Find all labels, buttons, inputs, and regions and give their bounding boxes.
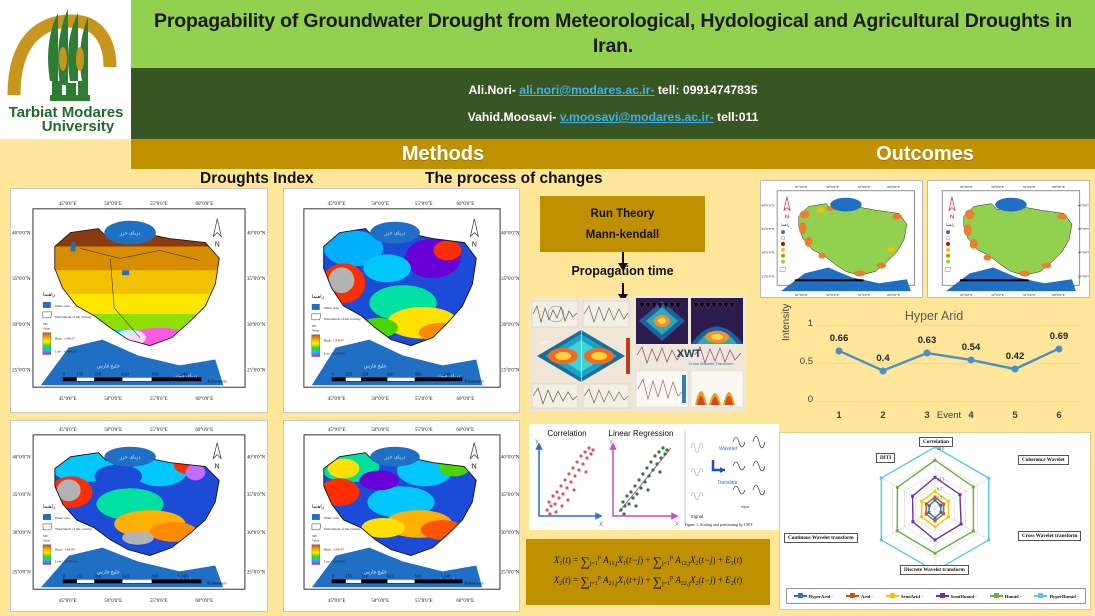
flow-mann-kendall: Mann-kendall <box>586 229 659 241</box>
map-d-lon-1: 45°0'0"E <box>328 428 346 433</box>
map-a-lat-r2: 35°0'0"N <box>247 277 266 282</box>
flow-run-theory: Run Theory <box>591 208 655 220</box>
radar-point <box>987 539 990 542</box>
omap-l-lon-2: 50°0'0"E <box>826 185 839 189</box>
map-c-lon-b3: 55°0'0"E <box>150 599 168 604</box>
map-a-lat-3: 30°0'0"N <box>12 323 31 328</box>
map-c-legend-title: راهنما <box>43 504 56 510</box>
cwt-signal-label: Signal <box>691 514 704 519</box>
map-b-lon-b2: 50°0'0"E <box>371 397 389 402</box>
radar-point <box>920 515 923 518</box>
chart-title: Hyper Arid <box>779 309 1089 323</box>
omap-r-lat-2: 35°0'0"N <box>1078 227 1089 231</box>
map-b-lat-3: 30°0'0"N <box>501 323 519 328</box>
omap-l-north: N <box>785 214 789 220</box>
radar-point <box>942 512 945 515</box>
radar-legend-swatch <box>990 595 1003 597</box>
radar-point <box>925 503 928 506</box>
omap-l-legend-title: راهنما <box>781 223 790 227</box>
chart-data-label: 0.54 <box>962 342 981 353</box>
radar-legend-item[interactable]: HyperArid - <box>794 594 833 599</box>
radar-legend: HyperArid -Arid -SemiArid -SemiHumid -Hu… <box>786 588 1086 604</box>
map-d-legend-low: Low : -0.849561 <box>324 560 347 564</box>
map-d-scale-2: 310 <box>361 573 368 578</box>
chart-y-axis-label: Intensity <box>781 304 792 341</box>
iran-map-c-graphic: دریای خزر خلیج فارس دریای عمان 45°0'0"E … <box>11 421 267 611</box>
radar-legend-swatch <box>1034 595 1047 597</box>
linear-regression-title: Linear Regression <box>609 429 674 438</box>
map-c-scale-0: 0 <box>63 573 65 578</box>
omap-l-lat-4: 25°0'0"N <box>761 274 775 278</box>
map-c-lon-4: 60°0'0"E <box>195 428 213 433</box>
omap-l-lonb-3: 55°0'0"E <box>858 293 871 297</box>
map-b-lat-2: 35°0'0"N <box>501 277 519 282</box>
radar-point <box>958 493 961 496</box>
map-b-north-label: N <box>472 241 477 248</box>
map-a-legend-high: High : 1.94197 <box>55 337 76 341</box>
map-a-legend-value: Value <box>43 327 51 331</box>
map-c-lon-b1: 45°0'0"E <box>59 599 77 604</box>
map-c-north-label: N <box>215 464 220 471</box>
radar-legend-item[interactable]: HyperHumid - <box>1034 594 1078 599</box>
map-a-legend-water: Water area <box>55 304 71 308</box>
radar-axis-label-cross-wavelet-transform: Cross Wavelet transform <box>1018 531 1081 541</box>
radar-point <box>911 520 914 523</box>
page-title: Propagability of Groundwater Drought fro… <box>145 9 1081 59</box>
map-a-lon-b2: 50°0'0"E <box>104 397 122 402</box>
university-logo: Tarbiat Modares University <box>0 0 131 139</box>
chart-data-label: 0.63 <box>918 335 937 346</box>
omap-r-lonb-3: 55°0'0"E <box>1023 293 1036 297</box>
map-a-scale-2: 310 <box>94 371 101 376</box>
omap-l-lon-1: 45°0'0"E <box>795 185 808 189</box>
chart-x-tick: 5 <box>1012 410 1017 421</box>
equation-2: X2(t) = ∑j=1p A21,jX1(t+j) + ∑j=1p A22,j… <box>554 574 742 590</box>
radar-point <box>920 500 923 503</box>
map-d-lon-3: 55°0'0"E <box>415 428 433 433</box>
map-a-lon-b3: 55°0'0"E <box>150 397 168 402</box>
map-groundwater-index: دریای خزر خلیج فارس دریای عمان 45°0'0"E … <box>283 420 520 612</box>
radar-point <box>947 515 950 518</box>
map-c-lat-4: 25°0'0"N <box>12 570 31 575</box>
map-c-lat-r2: 35°0'0"N <box>247 493 266 498</box>
map-b-gulf-label: خلیج فارس <box>364 363 387 369</box>
cwt-translate-label: Translate <box>717 480 738 486</box>
radar-legend-label: HyperArid - <box>809 594 833 599</box>
omap-l-lat-1: 40°0'0"N <box>761 204 775 208</box>
radar-legend-item[interactable]: SemiHumid - <box>936 594 977 599</box>
map-a-legend-watersheds: Watersheds of the country <box>55 315 92 319</box>
chart-x-tick: 6 <box>1056 410 1061 421</box>
xwt-label: XWT <box>677 348 702 360</box>
radar-point <box>942 503 945 506</box>
map-b-lon-b3: 55°0'0"E <box>415 397 433 402</box>
map-c-lat-3: 30°0'0"N <box>12 531 31 536</box>
map-a-legend-low: Low : -0.849561 <box>55 350 78 354</box>
author-2-email[interactable]: v.moosavi@modares.ac.ir- <box>560 110 714 124</box>
contact-band: Ali.Nori- ali.nori@modares.ac.ir- tell: … <box>131 68 1095 139</box>
outcome-map-left-graphic: N راهنما 45°0'0"E 50°0'0"E 55°0'0"E 6 <box>761 181 922 297</box>
map-a-lat-1: 40°0'0"N <box>12 232 31 237</box>
subheading-droughts-index: Droughts Index <box>200 170 314 188</box>
radar-legend-swatch <box>846 595 859 597</box>
contact-row-1: Ali.Nori- ali.nori@modares.ac.ir- tell: … <box>469 83 758 97</box>
reg-y-axis-label: Y <box>609 440 613 446</box>
map-d-lat-3: 30°0'0"N <box>501 531 519 536</box>
map-a-lat-4: 25°0'0"N <box>12 368 31 373</box>
map-a-scale-4: 930 <box>152 371 159 376</box>
map-a-scale-unit: Kilometers <box>207 378 227 383</box>
omap-r-north: N <box>950 214 954 220</box>
map-d-legend-spi: SPI <box>312 534 317 538</box>
map-a-lon-3: 55°0'0"E <box>150 202 168 207</box>
corr-y-axis-label: Y <box>535 440 539 446</box>
map-d-scale-1: 155 <box>346 573 353 578</box>
map-a-scale-3: 620 <box>122 371 129 376</box>
map-d-lon-b4: 60°0'0"E <box>456 599 474 604</box>
map-a-lat-r1: 40°0'0"N <box>247 232 266 237</box>
map-d-lat-1: 40°0'0"N <box>501 456 519 461</box>
map-d-lat-2: 35°0'0"N <box>501 493 519 498</box>
map-b-lon-b1: 45°0'0"E <box>328 397 346 402</box>
map-c-scale-4: 930 <box>152 573 159 578</box>
map-b-legend-water: Water area <box>324 306 340 310</box>
map-a-lon-1: 45°0'0"E <box>59 202 77 207</box>
map-b-scale-unit: Kilometers <box>464 378 484 383</box>
subheading-process-of-changes: The process of changes <box>425 170 602 188</box>
chart-plot-area: 10.500.6610.420.6330.5440.4250.696Event <box>817 325 1081 401</box>
omap-l-lonb-2: 50°0'0"E <box>826 293 839 297</box>
radar-legend-label: Humid - <box>1005 594 1021 599</box>
radar-ring-value: 9.7 <box>937 487 942 492</box>
map-c-legend-spi: SPI <box>43 534 48 538</box>
chart-y-tick: 0 <box>799 394 813 405</box>
radar-legend-label: HyperHumid - <box>1049 594 1078 599</box>
cwt-input-label: Input <box>741 505 749 509</box>
map-c-lon-1: 45°0'0"E <box>59 428 77 433</box>
map-agricultural-index: دریای خزر خلیج فارس دریای عمان 45°0'0"E … <box>10 420 268 612</box>
radar-point <box>934 539 937 542</box>
map-d-scale-3: 620 <box>387 573 394 578</box>
map-a-lat-2: 35°0'0"N <box>12 277 31 282</box>
correlation-title: Correlation <box>547 429 586 438</box>
radar-point <box>925 513 928 516</box>
radar-legend-swatch <box>936 595 949 597</box>
radar-legend-item[interactable]: Humid - <box>990 594 1021 599</box>
radar-point <box>972 530 975 533</box>
map-d-lon-4: 60°0'0"E <box>456 428 474 433</box>
radar-ring-value: 3.0 <box>937 501 942 506</box>
cwt-graphic: CWT <box>529 298 633 411</box>
iran-map-a-graphic: دریای خزر خلیج فارس دریای عمان 45°0'0"E … <box>11 189 267 412</box>
cwt-figure-image: CWT <box>529 298 633 411</box>
radar-chart: 28.014.39.75.73.0 Correlation Coherence … <box>779 432 1091 610</box>
radar-point <box>972 485 975 488</box>
chart-x-tick: 1 <box>836 410 841 421</box>
chart-x-tick: 2 <box>880 410 885 421</box>
section-header-methods: Methods <box>131 139 755 169</box>
author-1-email[interactable]: ali.nori@modares.ac.ir- <box>519 83 654 97</box>
xwt-sublabel: Cross Wavelet Transform <box>689 361 735 366</box>
chart-y-tick: 1 <box>799 318 813 329</box>
radar-point <box>947 500 950 503</box>
radar-axis-label-coherence-wavelet: Coherence Wavelet <box>1018 455 1069 465</box>
radar-point <box>880 539 883 542</box>
band-left-filler <box>0 139 131 169</box>
xwt-figure-image: XWT Cross Wavelet Transform <box>633 295 746 411</box>
radar-point <box>934 516 937 519</box>
outcome-map-left: N راهنما 45°0'0"E 50°0'0"E 55°0'0"E 6 <box>760 180 923 298</box>
outcome-map-right: N راهنما 45°0'0"E 50°0'0"E 55°0'0"E 6 <box>927 180 1090 298</box>
iran-map-d-graphic: دریای خزر خلیج فارس دریای عمان 45°0'0"E … <box>284 421 519 611</box>
map-c-lat-2: 35°0'0"N <box>12 493 31 498</box>
map-b-legend-value: Value <box>312 329 320 333</box>
map-a-legend-title: راهنما <box>43 292 56 298</box>
map-d-legend-value: Value <box>312 539 320 543</box>
poster-root: Tarbiat Modares University Propagability… <box>0 0 1095 616</box>
correlation-regression-figure: Correlation Linear Regression Y X <box>529 424 779 530</box>
omap-r-lon-1: 45°0'0"E <box>960 185 973 189</box>
chart-data-point[interactable] <box>880 367 887 374</box>
omap-l-lon-3: 55°0'0"E <box>858 185 871 189</box>
radar-axis-label-diti: DITI <box>876 453 895 463</box>
flow-arrow-2 <box>622 283 624 295</box>
cwt-wavelet-label: Wavelet <box>719 446 738 452</box>
omap-r-lat-1: 40°0'0"N <box>1078 204 1089 208</box>
map-c-legend-value: Value <box>43 539 51 543</box>
chart-x-axis-label: Event <box>937 410 961 421</box>
chart-data-point[interactable] <box>836 347 843 354</box>
map-c-legend-water: Water area <box>55 516 71 520</box>
author-1-name: Ali.Nori- <box>469 83 516 97</box>
omap-r-lat-3: 30°0'0"N <box>1078 251 1089 255</box>
map-b-legend-high: High : 1.94197 <box>324 339 345 343</box>
map-d-lon-b3: 55°0'0"E <box>415 599 433 604</box>
outcome-trend-maps: N راهنما 45°0'0"E 50°0'0"E 55°0'0"E 6 <box>760 180 1090 298</box>
radar-point <box>927 511 930 514</box>
map-a-lon-b4: 60°0'0"E <box>195 397 213 402</box>
correlation-graphic: Correlation Linear Regression Y X <box>529 424 779 530</box>
cwt-label: CWT <box>539 340 549 345</box>
radar-axis-label-continous-wavelet-transform: Continous Wavelet transform <box>784 533 858 543</box>
chart-y-tick: 0.5 <box>799 356 813 367</box>
xwt-graphic: XWT Cross Wavelet Transform <box>633 295 746 411</box>
radar-point <box>911 495 914 498</box>
chart-series-line <box>817 325 1081 401</box>
map-c-lat-r1: 40°0'0"N <box>247 456 266 461</box>
radar-legend-label: SemiHumid - <box>951 594 977 599</box>
iran-map-b-graphic: دریای خزر خلیج فارس دریای عمان 45°0'0"E … <box>284 189 519 412</box>
omap-r-lonb-2: 50°0'0"E <box>991 293 1004 297</box>
map-d-legend-watersheds: Watersheds of the country <box>324 527 361 531</box>
map-b-lon-3: 55°0'0"E <box>415 202 433 207</box>
radar-legend-swatch <box>886 595 899 597</box>
corr-x-axis-label: X <box>599 522 603 528</box>
map-c-lat-r4: 25°0'0"N <box>247 570 266 575</box>
omap-l-lat-2: 35°0'0"N <box>761 227 775 231</box>
cwt-figure-caption: Figure 1. Scaling and positioning by CWT… <box>685 522 754 527</box>
hyper-arid-chart: Hyper Arid Intensity 10.500.6610.420.633… <box>779 307 1089 427</box>
map-c-caspian-label: دریای خزر <box>119 455 141 461</box>
map-b-lon-b4: 60°0'0"E <box>457 397 475 402</box>
map-hydrological-index: دریای خزر خلیج فارس دریای عمان 45°0'0"E … <box>283 188 520 413</box>
map-b-lon-2: 50°0'0"E <box>371 202 389 207</box>
radar-legend-label: Arid - <box>861 594 873 599</box>
map-d-lon-b1: 45°0'0"E <box>328 599 346 604</box>
map-b-legend-low: Low : -0.849561 <box>324 352 347 356</box>
radar-point <box>934 525 937 528</box>
chart-gridline <box>817 401 1081 402</box>
map-c-lat-r3: 30°0'0"N <box>247 531 266 536</box>
map-c-lon-3: 55°0'0"E <box>150 428 168 433</box>
omap-r-lon-4: 60°0'0"E <box>1052 185 1065 189</box>
map-d-legend-high: High : 1.94197 <box>324 548 345 552</box>
map-d-lat-4: 25°0'0"N <box>501 570 519 575</box>
map-d-scale-unit: Kilometers <box>464 580 484 585</box>
map-b-legend-spi: SPI <box>312 324 317 328</box>
map-a-scale-1: 155 <box>77 371 84 376</box>
map-c-lat-1: 40°0'0"N <box>12 456 31 461</box>
radar-point <box>934 519 937 522</box>
outcomes-label: Outcomes <box>876 143 974 166</box>
outcome-map-right-graphic: N راهنما 45°0'0"E 50°0'0"E 55°0'0"E 6 <box>928 181 1089 297</box>
map-c-scale-2: 310 <box>94 573 101 578</box>
chart-data-point[interactable] <box>924 350 931 357</box>
map-b-caspian-label: دریای خزر <box>384 231 406 237</box>
contact-row-2: Vahid.Moosavi- v.moosavi@modares.ac.ir- … <box>468 110 759 124</box>
radar-point <box>896 486 899 489</box>
radar-axis-label-discrete-wavelet-transform: Discrete Wavelet transform <box>900 565 969 575</box>
map-c-lon-b2: 50°0'0"E <box>104 599 122 604</box>
map-c-legend-watersheds: Watersheds of the country <box>55 527 92 531</box>
map-d-legend-water: Water area <box>324 516 340 520</box>
map-a-gulf-label: خلیج فارس <box>97 363 120 369</box>
map-b-lon-4: 60°0'0"E <box>457 202 475 207</box>
radar-legend-item[interactable]: Arid - <box>846 594 873 599</box>
equation-1: X1(t) = ∑j=1p A11,jX1(t−j) + ∑j=1p A12,j… <box>554 554 742 570</box>
chart-x-tick: 3 <box>924 410 929 421</box>
map-d-lon-b2: 50°0'0"E <box>371 599 389 604</box>
reg-x-axis-label: X <box>675 522 679 528</box>
chart-data-label: 0.4 <box>876 353 889 364</box>
chart-data-point[interactable] <box>1012 366 1019 373</box>
map-d-caspian-label: دریای خزر <box>384 455 406 461</box>
omap-r-legend-title: راهنما <box>946 223 955 227</box>
map-b-scale-4: 930 <box>415 371 422 376</box>
omap-r-lonb-1: 45°0'0"E <box>960 293 973 297</box>
omap-r-lat-4: 25°0'0"N <box>1078 274 1089 278</box>
map-a-lon-4: 60°0'0"E <box>195 202 213 207</box>
map-c-scale-unit: Kilometers <box>207 580 227 585</box>
omap-l-lat-3: 30°0'0"N <box>761 251 775 255</box>
radar-legend-label: SemiArid - <box>901 594 923 599</box>
omap-r-lon-3: 55°0'0"E <box>1023 185 1036 189</box>
omap-l-lonb-1: 45°0'0"E <box>795 293 808 297</box>
map-b-scale-1: 155 <box>346 371 353 376</box>
logo-line2: University <box>41 118 114 133</box>
map-d-scale-0: 0 <box>332 573 334 578</box>
radar-point <box>896 529 899 532</box>
flow-arrow-1 <box>622 252 624 264</box>
map-c-lon-b4: 60°0'0"E <box>195 599 213 604</box>
map-c-scale-1: 155 <box>77 573 84 578</box>
map-b-scale-2: 310 <box>361 371 368 376</box>
chart-data-label: 0.42 <box>1006 351 1025 362</box>
map-b-lon-1: 45°0'0"E <box>328 202 346 207</box>
map-b-lat-4: 25°0'0"N <box>501 368 519 373</box>
chart-data-point[interactable] <box>968 356 975 363</box>
radar-axis-label-correlation: Correlation <box>919 437 953 447</box>
omap-l-lonb-4: 60°0'0"E <box>887 293 900 297</box>
map-b-legend-watersheds: Watersheds of the country <box>324 317 361 321</box>
poster-title-band: Propagability of Groundwater Drought fro… <box>131 0 1095 68</box>
radar-point <box>934 459 937 462</box>
radar-ring-value: 14.3 <box>937 476 944 481</box>
radar-ring-value: 5.7 <box>937 495 942 500</box>
chart-x-tick: 4 <box>968 410 973 421</box>
methods-label: Methods <box>402 143 484 166</box>
var-model-equations: X1(t) = ∑j=1p A11,jX1(t−j) + ∑j=1p A12,j… <box>526 539 770 605</box>
radar-legend-swatch <box>794 595 807 597</box>
tarbiat-modares-logo-icon: Tarbiat Modares University <box>6 7 126 133</box>
chart-data-point[interactable] <box>1056 345 1063 352</box>
map-c-scale-3: 620 <box>122 573 129 578</box>
map-b-legend-title: راهنما <box>312 294 325 300</box>
omap-r-lon-2: 50°0'0"E <box>991 185 1004 189</box>
map-a-lat-r4: 25°0'0"N <box>247 368 266 373</box>
chart-data-label: 0.66 <box>830 333 849 344</box>
radar-point <box>928 504 931 507</box>
map-a-lon-b1: 45°0'0"E <box>59 397 77 402</box>
map-a-lon-2: 50°0'0"E <box>104 202 122 207</box>
map-a-north-label: N <box>215 241 220 248</box>
map-c-legend-low: Low : -0.849561 <box>55 560 78 564</box>
map-c-lon-2: 50°0'0"E <box>104 428 122 433</box>
map-b-scale-3: 620 <box>387 371 394 376</box>
methods-flow-box: Run Theory Mann-kendall <box>540 196 705 252</box>
author-2-name: Vahid.Moosavi- <box>468 110 557 124</box>
chart-data-label: 0.69 <box>1050 331 1069 342</box>
radar-point <box>880 477 883 480</box>
omap-l-lon-4: 60°0'0"E <box>887 185 900 189</box>
map-a-lat-r3: 30°0'0"N <box>247 323 266 328</box>
flow-propagation-time: Propagation time <box>540 264 705 278</box>
radar-point <box>960 523 963 526</box>
radar-legend-item[interactable]: SemiArid - <box>886 594 923 599</box>
map-b-lat-1: 40°0'0"N <box>501 232 519 237</box>
map-c-legend-high: High : 1.94197 <box>55 548 76 552</box>
radar-point <box>987 477 990 480</box>
section-header-outcomes: Outcomes <box>755 139 1095 169</box>
map-d-scale-4: 930 <box>415 573 422 578</box>
map-a-caspian-label: دریای خزر <box>119 231 141 237</box>
author-2-tel: tell:011 <box>717 110 758 124</box>
map-a-legend-spi: SPI <box>43 322 48 326</box>
map-d-legend-title: راهنما <box>312 504 325 510</box>
map-d-north-label: N <box>472 464 477 471</box>
map-d-lon-2: 50°0'0"E <box>371 428 389 433</box>
radar-point <box>934 552 937 555</box>
map-spi-meteorological: دریای خزر خلیج فارس دریای عمان 45°0'0"E … <box>10 188 268 413</box>
omap-r-lonb-4: 60°0'0"E <box>1052 293 1065 297</box>
author-1-tel: tell: 09914747835 <box>658 83 758 97</box>
